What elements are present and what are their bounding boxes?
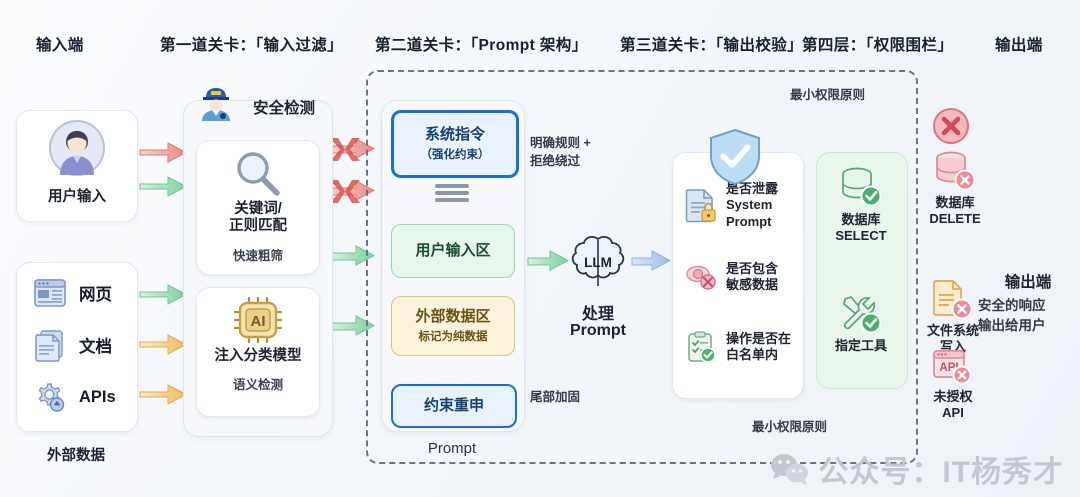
denied-item-api[interactable]: API 未授权 API	[914, 348, 992, 420]
prompt-block-constraint-title: 约束重申	[424, 397, 484, 414]
verification-text-system-prompt: 是否泄露 System Prompt	[726, 181, 778, 230]
allowed-item-database-select[interactable]: 数据库 SELECT	[816, 166, 906, 243]
api-gear-icon	[33, 381, 67, 413]
svg-text:AI: AI	[251, 313, 266, 330]
brain-icon[interactable]: LLM	[568, 234, 628, 292]
verification-row-sensitive-data[interactable]: 是否包含 敏感数据	[685, 261, 778, 294]
denied-item-cross	[914, 106, 988, 146]
file-deny-icon	[931, 278, 975, 322]
gate1-card-keyword-title: 关键词/ 正则匹配	[197, 201, 319, 236]
watermark: 公众号：IT杨秀才	[770, 447, 1064, 491]
verification-text-whitelist: 操作是否在 白名单内	[726, 331, 791, 364]
user-input-card[interactable]: 用户输入	[16, 110, 138, 222]
source-label-document: 文档	[79, 333, 112, 357]
least-privilege-label-bottom: 最小权限原则	[752, 418, 827, 436]
allowed-label-database-select: 数据库 SELECT	[816, 212, 906, 243]
gate1-card-classifier-sub: 语义检测	[197, 374, 319, 393]
gate1-card-classifier-title: 注入分类模型	[197, 348, 319, 365]
output-text: 安全的响应 输出给用户	[978, 296, 1080, 335]
output-title: 输出端	[978, 270, 1078, 292]
ai-chip-icon: AI	[233, 296, 283, 344]
gate1-card-keyword-sub: 快速粗筛	[197, 245, 319, 264]
prompt-block-user-title: 用户输入区	[415, 242, 490, 259]
arrow-doc-to-gate1	[140, 335, 186, 354]
police-officer-icon	[196, 82, 236, 122]
magnifier-icon	[233, 149, 283, 199]
external-data-card[interactable]: 网页 文档 APIs	[16, 262, 138, 432]
verification-card[interactable]: 是否泄露 System Prompt 是否包含 敏感数据 操	[672, 152, 804, 399]
allowed-label-tools: 指定工具	[816, 338, 906, 354]
svg-text:LLM: LLM	[584, 255, 612, 270]
verification-row-whitelist[interactable]: 操作是否在 白名单内	[685, 331, 791, 364]
sensitive-data-icon	[685, 262, 717, 292]
allowed-item-tools[interactable]: 指定工具	[816, 292, 906, 354]
least-privilege-label-top: 最小权限原则	[790, 86, 865, 104]
prompt-note-top: 明确规则 + 拒绝绕过	[530, 134, 640, 170]
gate1-title: 安全检测	[236, 96, 332, 118]
prompt-block-system-instruction[interactable]: 系统指令 （强化约束）	[391, 110, 519, 178]
verification-text-sensitive-data: 是否包含 敏感数据	[726, 261, 778, 294]
arrow-user-to-gate1-red	[140, 143, 186, 162]
external-data-caption: 外部数据	[16, 444, 136, 465]
database-check-icon	[838, 166, 884, 210]
source-row-document[interactable]: 文档	[33, 329, 112, 361]
wechat-icon	[770, 452, 810, 486]
prompt-block-external-data[interactable]: 外部数据区 标记为纯数据	[391, 296, 515, 356]
prompt-block-external-sub: 标记为纯数据	[419, 328, 488, 344]
denied-item-database-delete[interactable]: 数据库 DELETE	[914, 150, 996, 226]
diagram-canvas: 输入端 第一道关卡：「输入过滤」 第二道关卡：「Prompt 架构」 第三道关卡…	[0, 0, 1080, 497]
prompt-block-user-input[interactable]: 用户输入区	[391, 224, 515, 278]
llm-caption-line2: Prompt	[548, 322, 648, 340]
arrow-api-to-gate1	[140, 385, 186, 404]
source-row-webpage[interactable]: 网页	[33, 277, 112, 309]
source-label-apis: APIs	[79, 388, 116, 407]
cross-circle-icon	[931, 106, 971, 146]
llm-caption-line1: 处理	[548, 300, 648, 324]
watermark-text: 公众号：IT杨秀才	[818, 447, 1064, 491]
denied-label-database-delete: 数据库 DELETE	[914, 195, 996, 226]
equals-separator-icon	[435, 184, 469, 202]
user-avatar-icon	[48, 119, 106, 177]
gate1-card-keyword[interactable]: 关键词/ 正则匹配 快速粗筛	[196, 140, 320, 275]
prompt-block-system-title: 系统指令	[425, 126, 485, 143]
arrow-user-to-gate1-green	[140, 177, 186, 196]
verification-row-system-prompt[interactable]: 是否泄露 System Prompt	[685, 181, 778, 230]
shield-check-icon	[707, 128, 763, 186]
webpage-icon	[33, 277, 67, 309]
prompt-block-constraint-restate[interactable]: 约束重申	[391, 384, 517, 428]
prompt-note-bottom: 尾部加固	[530, 388, 640, 406]
checklist-icon	[685, 331, 717, 363]
prompt-block-external-title: 外部数据区	[415, 308, 490, 325]
prompt-block-system-sub: （强化约束）	[421, 146, 490, 162]
source-row-apis[interactable]: APIs	[33, 381, 116, 413]
tools-check-icon	[838, 292, 884, 336]
denied-label-api: 未授权 API	[914, 389, 992, 420]
prompt-caption: Prompt	[381, 440, 523, 457]
document-icon	[33, 329, 67, 361]
arrow-web-to-gate1	[140, 285, 186, 304]
document-lock-icon	[685, 188, 717, 222]
gate1-card-classifier[interactable]: AI 注入分类模型 语义检测	[196, 287, 320, 417]
source-label-webpage: 网页	[79, 281, 112, 305]
database-deny-icon	[932, 150, 978, 194]
api-deny-icon: API	[931, 348, 975, 388]
user-input-label: 用户输入	[17, 185, 137, 206]
